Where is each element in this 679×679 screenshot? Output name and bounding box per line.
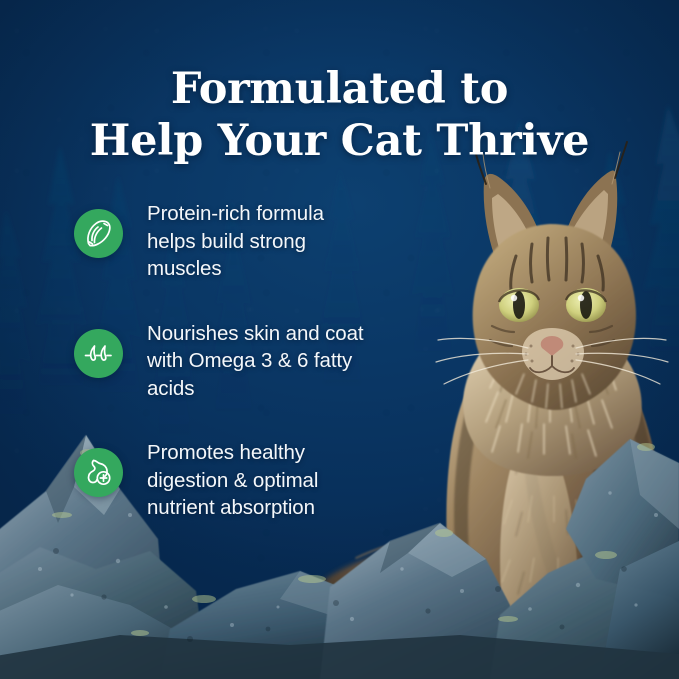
feature-item-protein: Protein-rich formula helps build strong … <box>74 200 374 283</box>
feature-text-digestion: Promotes healthy digestion & optimal nut… <box>147 439 374 522</box>
feature-item-skin-coat: Nourishes skin and coat with Omega 3 & 6… <box>74 320 374 403</box>
feature-text-skin-coat: Nourishes skin and coat with Omega 3 & 6… <box>147 320 374 403</box>
muscle-icon <box>74 209 123 258</box>
skin-coat-follicle-icon <box>74 329 123 378</box>
promo-image: Formulated to Help Your Cat Thrive Prote… <box>0 0 679 679</box>
headline-line-2: Help Your Cat Thrive <box>0 115 679 167</box>
feature-list: Protein-rich formula helps build strong … <box>74 200 374 522</box>
page-title: Formulated to Help Your Cat Thrive <box>0 63 679 167</box>
feature-item-digestion: Promotes healthy digestion & optimal nut… <box>74 439 374 522</box>
cat-head <box>436 142 668 410</box>
headline-line-1: Formulated to <box>0 63 679 115</box>
feature-text-protein: Protein-rich formula helps build strong … <box>147 200 374 283</box>
stomach-plus-icon <box>74 448 123 497</box>
